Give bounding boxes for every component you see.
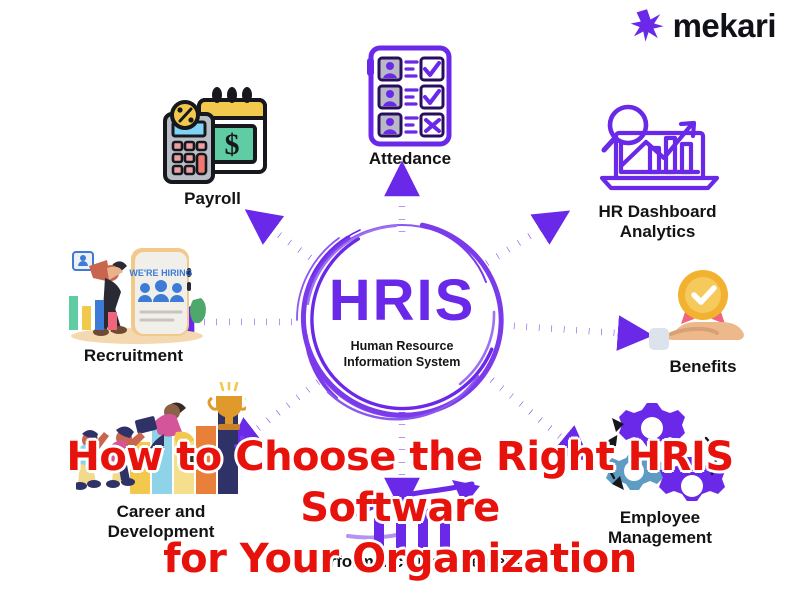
svg-text:WE'RE HIRING: WE'RE HIRING	[129, 268, 192, 278]
node-recruitment[interactable]: WE'RE HIRING	[46, 238, 221, 366]
laptop-analytics-icon	[588, 102, 728, 202]
node-attendance[interactable]: Attedance	[330, 44, 490, 169]
node-dashboard[interactable]: HR Dashboard Analytics	[560, 102, 755, 242]
node-attendance-label: Attedance	[369, 149, 451, 169]
mekari-wordmark: mekari	[673, 9, 776, 42]
hub-subtitle-line2: Information System	[344, 355, 461, 371]
node-payroll[interactable]: $ Payroll	[140, 84, 285, 209]
node-recruitment-label: Recruitment	[84, 346, 183, 366]
headline-overlay: How to Choose the Right HRIS Software fo…	[0, 432, 800, 586]
hub-title: HRIS	[329, 272, 476, 330]
node-dashboard-label: HR Dashboard Analytics	[598, 202, 716, 242]
node-payroll-label: Payroll	[184, 189, 241, 209]
six-point-star-icon	[630, 8, 664, 42]
headline-line2: for Your Organization	[0, 534, 800, 585]
arrow-to-benefits	[514, 326, 632, 334]
calculator-payroll-icon: $	[155, 84, 270, 189]
node-benefits[interactable]: Benefits	[638, 262, 768, 377]
node-benefits-label: Benefits	[669, 357, 736, 377]
megaphone-hiring-icon: WE'RE HIRING	[59, 238, 209, 346]
headline-line1: How to Choose the Right HRIS Software	[66, 434, 733, 531]
hand-medal-benefits-icon	[649, 262, 757, 357]
svg-text:$: $	[225, 128, 240, 161]
infographic-canvas: mekari	[0, 0, 800, 600]
checklist-attendance-icon	[363, 44, 457, 149]
mekari-logo: mekari	[630, 8, 776, 42]
hub-subtitle-line1: Human Resource	[344, 339, 461, 355]
hris-hub: HRIS Human Resource Information System	[288, 216, 516, 426]
